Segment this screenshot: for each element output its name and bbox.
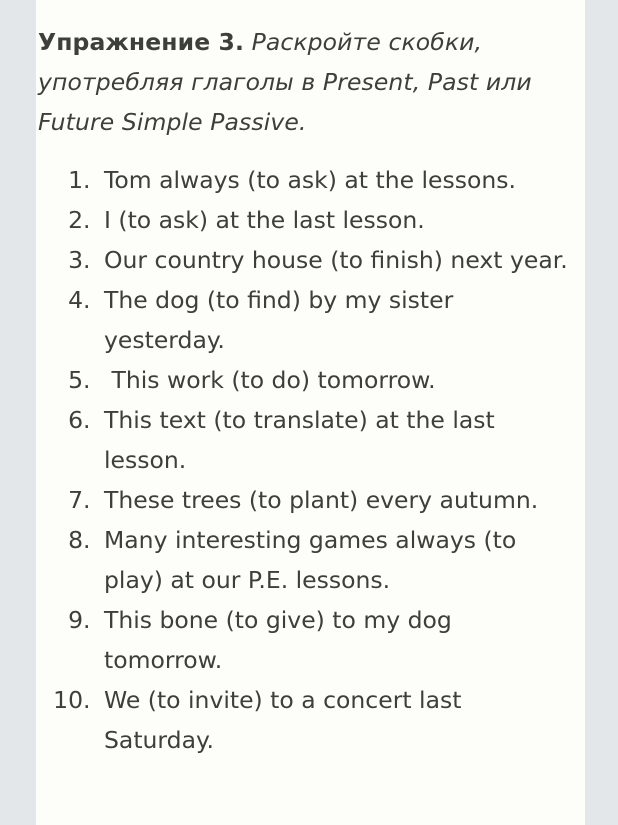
page-title: Упражнение 3. Раскройте скобки, употребл…: [38, 22, 575, 142]
document-sheet: Упражнение 3. Раскройте скобки, употребл…: [36, 0, 585, 825]
list-item: Tom always (to ask) at the lessons.: [98, 160, 571, 200]
document-content: Упражнение 3. Раскройте скобки, употребл…: [36, 0, 585, 760]
exercise-label: Упражнение 3.: [38, 28, 244, 56]
list-item: Our country house (to finish) next year.: [98, 240, 571, 280]
list-item: Many interesting games always (to play) …: [98, 520, 571, 600]
list-item: This text (to translate) at the last les…: [98, 400, 571, 480]
list-item: This work (to do) tomorrow.: [98, 360, 571, 400]
list-item: The dog (to find) by my sister yesterday…: [98, 280, 571, 360]
list-item: This bone (to give) to my dog tomorrow.: [98, 600, 571, 680]
list-item: I (to ask) at the last lesson.: [98, 200, 571, 240]
list-item: These trees (to plant) every autumn.: [98, 480, 571, 520]
list-item: We (to invite) to a concert last Saturda…: [98, 680, 571, 760]
exercise-list: Tom always (to ask) at the lessons. I (t…: [38, 160, 575, 760]
screenshot-root: Упражнение 3. Раскройте скобки, употребл…: [0, 0, 618, 825]
